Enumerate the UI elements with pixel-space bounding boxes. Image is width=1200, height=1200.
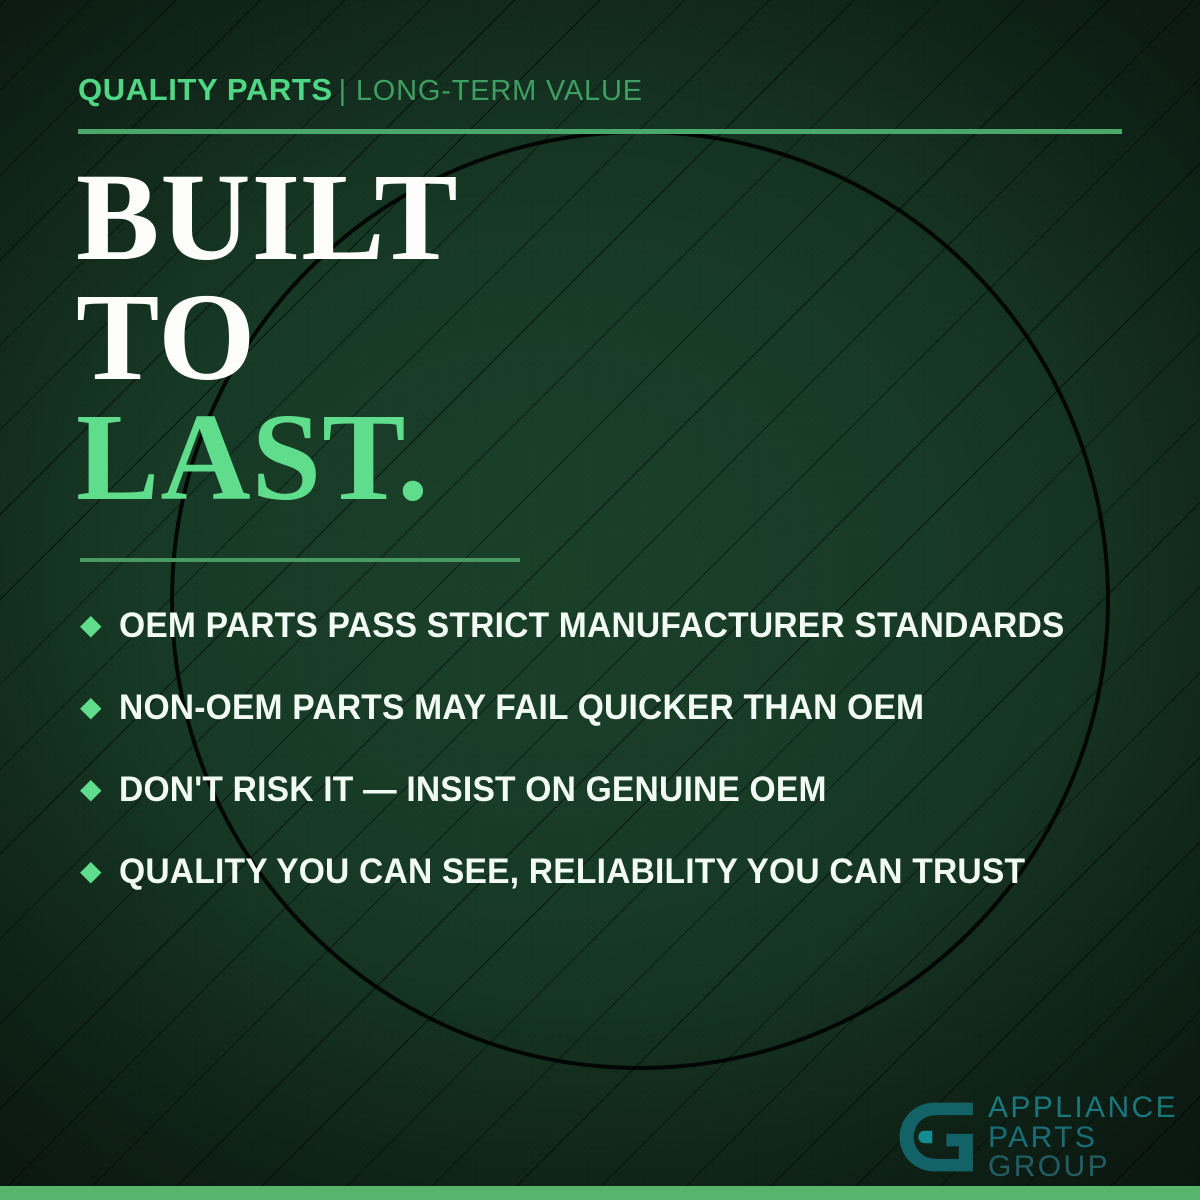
diamond-bullet-icon: ◆ xyxy=(80,775,102,803)
brand-word-group: GROUP xyxy=(988,1152,1178,1182)
poster-content: QUALITY PARTS| LONG-TERM VALUE BUILT TO … xyxy=(0,0,1200,1200)
benefits-list: ◆ OEM PARTS PASS STRICT MANUFACTURER STA… xyxy=(80,585,1140,913)
list-item: ◆ OEM PARTS PASS STRICT MANUFACTURER STA… xyxy=(80,585,1140,667)
headline-block: BUILT TO LAST. xyxy=(76,158,459,518)
list-item-label: QUALITY YOU CAN SEE, RELIABILITY YOU CAN… xyxy=(119,852,1025,892)
headline-divider-rule xyxy=(80,558,520,562)
bottom-accent-bar xyxy=(0,1186,1200,1200)
headline-line-1: BUILT xyxy=(76,158,459,278)
list-item-label: DON'T RISK IT — INSIST ON GENUINE OEM xyxy=(119,770,827,810)
list-item: ◆ QUALITY YOU CAN SEE, RELIABILITY YOU C… xyxy=(80,831,1140,913)
brand-word-parts: PARTS xyxy=(988,1123,1178,1153)
appliance-parts-group-g-mark-icon xyxy=(898,1098,976,1176)
eyebrow-strong-text: QUALITY PARTS xyxy=(78,72,333,107)
poster-canvas: QUALITY PARTS| LONG-TERM VALUE BUILT TO … xyxy=(0,0,1200,1200)
list-item-label: OEM PARTS PASS STRICT MANUFACTURER STAND… xyxy=(119,606,1065,646)
list-item-label: NON-OEM PARTS MAY FAIL QUICKER THAN OEM xyxy=(119,688,924,728)
eyebrow-light-text: | LONG-TERM VALUE xyxy=(339,75,643,107)
header-divider-rule xyxy=(78,129,1122,134)
brand-word-appliance: APPLIANCE xyxy=(988,1093,1178,1123)
eyebrow-heading: QUALITY PARTS| LONG-TERM VALUE xyxy=(78,72,643,108)
brand-logo-wordmark: APPLIANCE PARTS GROUP xyxy=(988,1093,1178,1182)
list-item: ◆ DON'T RISK IT — INSIST ON GENUINE OEM xyxy=(80,749,1140,831)
diamond-bullet-icon: ◆ xyxy=(80,693,102,721)
diamond-bullet-icon: ◆ xyxy=(80,611,102,639)
diamond-bullet-icon: ◆ xyxy=(80,857,102,885)
brand-logo: APPLIANCE PARTS GROUP xyxy=(898,1093,1178,1182)
headline-line-2: TO xyxy=(76,278,459,398)
headline-line-3: LAST. xyxy=(76,398,459,518)
list-item: ◆ NON-OEM PARTS MAY FAIL QUICKER THAN OE… xyxy=(80,667,1140,749)
